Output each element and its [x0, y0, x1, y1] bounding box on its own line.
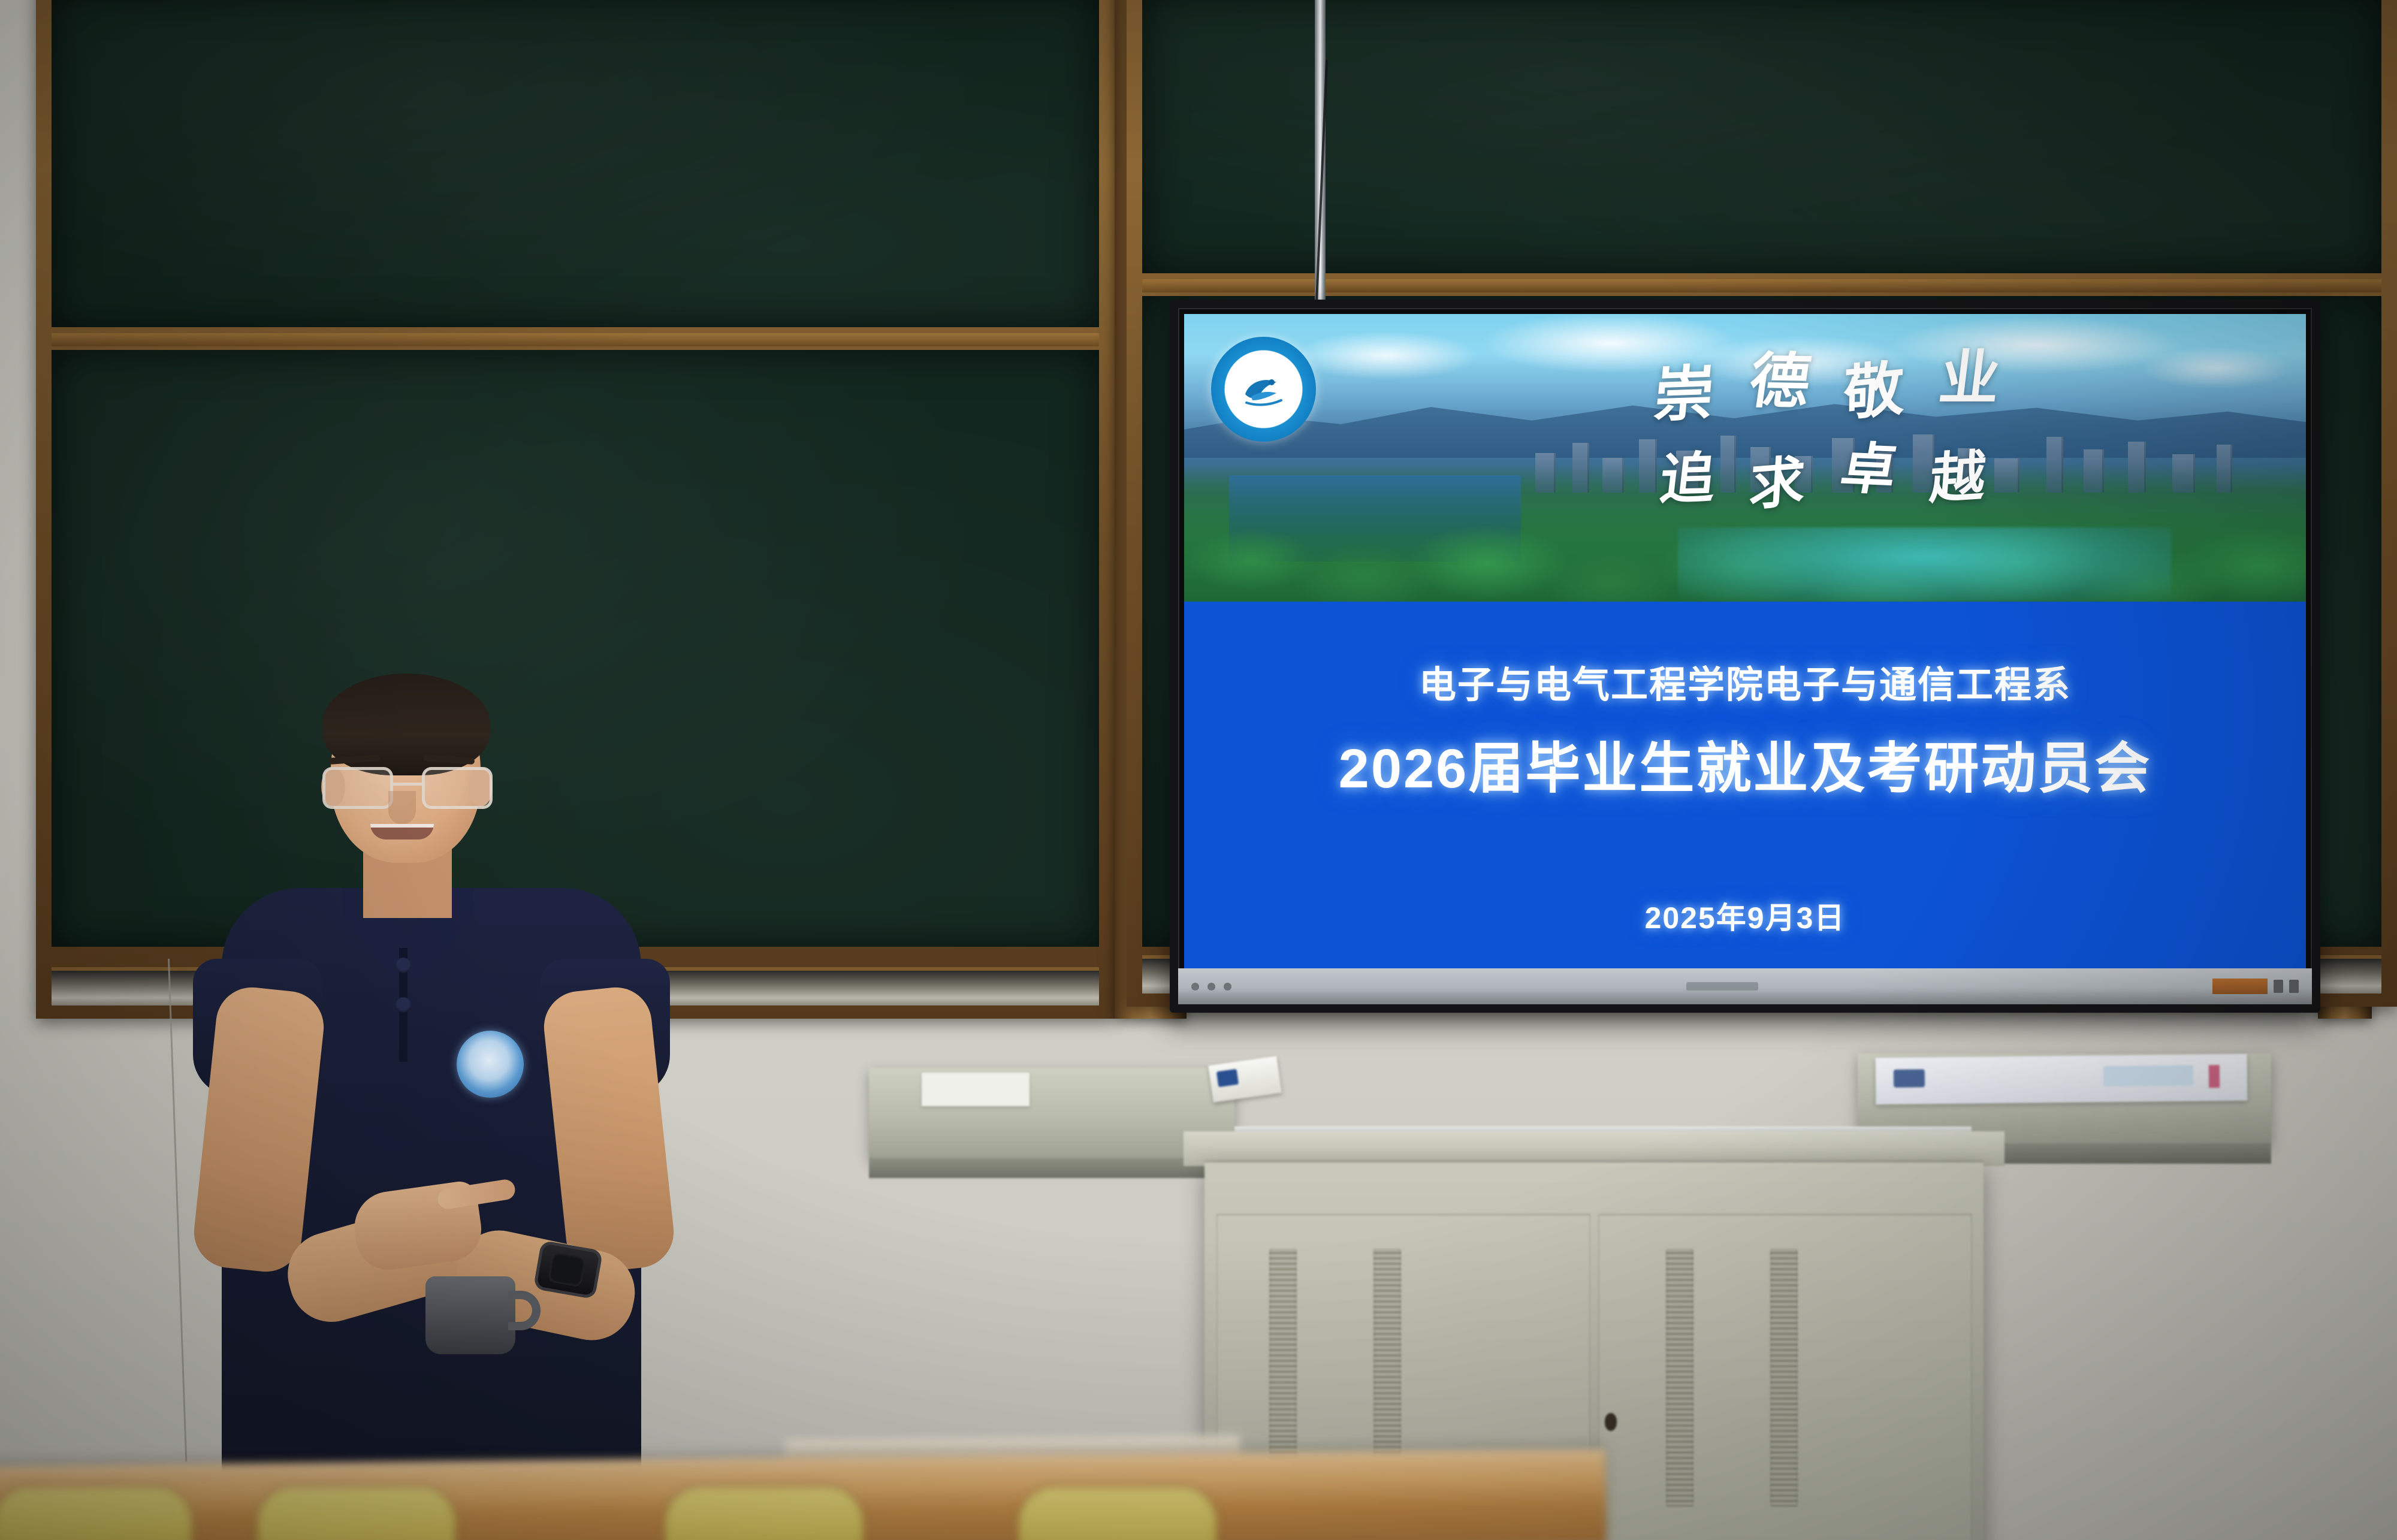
student-chair[interactable]	[1019, 1487, 1216, 1540]
watch-face	[548, 1252, 586, 1287]
interactive-flat-panel-display[interactable]: 崇 德 敬 业 追 求 卓 越 电子与电气工程学院电子与通信工程系 2026届毕…	[1170, 300, 2320, 1013]
presenter-nose	[388, 791, 416, 825]
glasses-lens-left	[322, 767, 393, 809]
podium-door-right[interactable]	[1598, 1214, 1972, 1540]
shirt-button	[396, 958, 411, 973]
document-logo-icon	[1894, 1069, 1925, 1088]
ventilation-louver-icon	[1666, 1249, 1693, 1506]
status-indicator-icon	[1207, 983, 1215, 991]
student-chair[interactable]	[258, 1487, 455, 1540]
blackboard-divider-right	[1142, 279, 2381, 292]
campus-lake	[1678, 527, 2172, 602]
school-crest-patch	[457, 1031, 524, 1098]
wrist-watch	[533, 1240, 603, 1300]
display-control-bar[interactable]	[1178, 968, 2312, 1004]
lock-keyhole-icon[interactable]	[1605, 1413, 1617, 1431]
student-chair[interactable]	[0, 1487, 192, 1540]
display-port-group[interactable]	[2212, 979, 2299, 994]
document-tab	[2103, 1065, 2193, 1087]
card-logo-icon	[1216, 1069, 1239, 1087]
sky-clouds	[1184, 314, 2306, 418]
glasses-lens-right	[422, 767, 493, 809]
blackboard-divider	[52, 333, 1099, 346]
podium-worktop	[1184, 1131, 2004, 1166]
university-emblem-icon	[1211, 337, 1316, 442]
glasses-bridge	[393, 783, 422, 786]
ventilation-louver-icon	[1770, 1249, 1798, 1506]
display-indicator-group	[1191, 983, 1231, 991]
document-marker-icon	[2209, 1065, 2220, 1088]
ir-receiver-window	[2212, 979, 2268, 994]
slide-date: 2025年9月3日	[1184, 894, 2306, 937]
presenter	[198, 677, 665, 1540]
power-indicator-icon	[1191, 983, 1199, 991]
ir-sensor-icon	[1224, 983, 1231, 991]
slide-subtitle: 电子与电气工程学院电子与通信工程系	[1419, 654, 2071, 708]
blackboard-panel-right-upper	[1142, 0, 2381, 273]
slide-title: 2026届毕业生就业及考研动员会	[1339, 724, 2152, 804]
presenter-mouth	[370, 824, 434, 840]
display-brand-logo	[1686, 982, 1758, 991]
shirt-button	[396, 997, 411, 1013]
blackboard-panel-upper	[52, 0, 1099, 327]
student-chair[interactable]	[665, 1487, 863, 1540]
presentation-screen[interactable]: 崇 德 敬 业 追 求 卓 越 电子与电气工程学院电子与通信工程系 2026届毕…	[1184, 314, 2306, 968]
coffee-mug[interactable]	[425, 1276, 515, 1354]
podium-left-rail	[869, 1158, 1234, 1178]
hdmi-port[interactable]	[2289, 980, 2299, 993]
slide-text-area: 电子与电气工程学院电子与通信工程系 2026届毕业生就业及考研动员会 2025年…	[1184, 602, 2306, 968]
printed-document[interactable]	[1876, 1054, 2248, 1104]
classroom-scene: 崇 德 敬 业 追 求 卓 越 电子与电气工程学院电子与通信工程系 2026届毕…	[0, 0, 2397, 1540]
equipment-label-sticker	[922, 1073, 1030, 1106]
slide-banner-image: 崇 德 敬 业 追 求 卓 越	[1184, 314, 2306, 602]
usb-port[interactable]	[2274, 980, 2283, 993]
